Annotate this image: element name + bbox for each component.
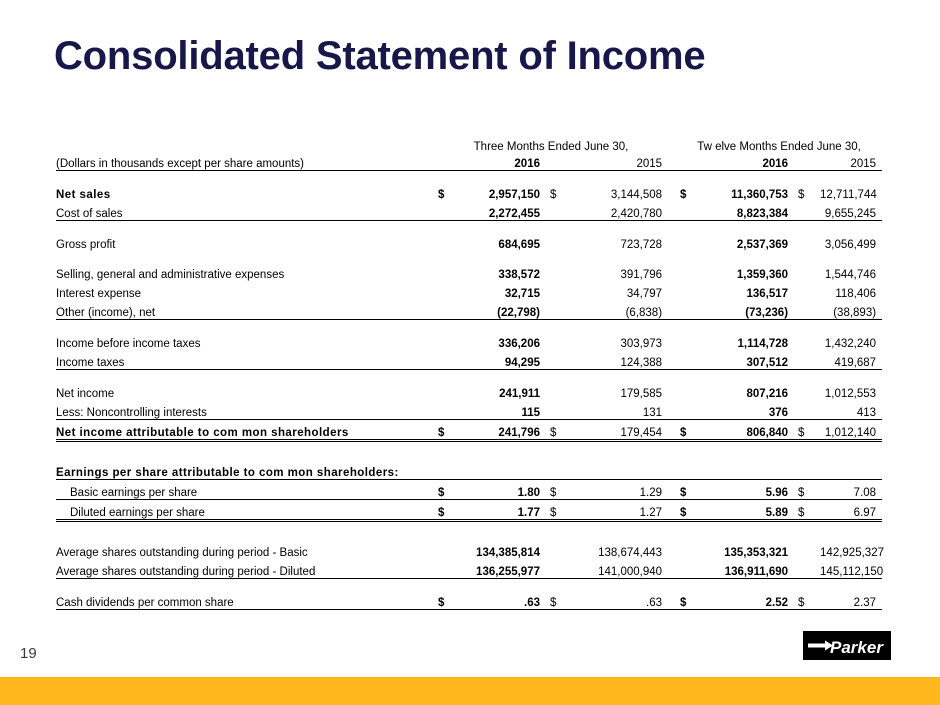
parker-logo: Parker [803, 631, 891, 660]
units-note: (Dollars in thousands except per share a… [56, 153, 434, 171]
currency-symbol: $ [794, 480, 820, 500]
col-header-y-2015: 2015 [820, 153, 882, 171]
currency-symbol: $ [546, 590, 572, 610]
cell-value: 807,216 [702, 381, 794, 400]
cell-value: 2,272,455 [460, 201, 546, 221]
row-label-avg-shares-diluted: Average shares outstanding during period… [56, 559, 434, 579]
parker-logo-text: Parker [830, 638, 884, 657]
currency-symbol: $ [546, 480, 572, 500]
cell-value: 8,823,384 [702, 201, 794, 221]
cell-value: 135,353,321 [702, 540, 794, 559]
financial-statement-table: Three Months Ended June 30, Tw elve Mont… [56, 136, 882, 610]
table-row: Basic earnings per share $ 1.80 $ 1.29 $… [56, 480, 882, 500]
cell-value: 413 [820, 400, 882, 420]
spacer-row [56, 521, 882, 541]
row-label-cost-of-sales: Cost of sales [56, 201, 434, 221]
row-label-gross-profit: Gross profit [56, 232, 434, 251]
table-row: Gross profit 684,695 723,728 2,537,369 3… [56, 232, 882, 251]
spacer-row [56, 579, 882, 591]
cell-value: 3,144,508 [572, 182, 668, 201]
cell-value: 1.77 [460, 500, 546, 521]
cell-value: 391,796 [572, 262, 668, 281]
cell-value: 94,295 [460, 350, 546, 370]
group-header-three-months: Three Months Ended June 30, [434, 136, 668, 153]
spacer-row [56, 441, 882, 461]
row-label-sga: Selling, general and administrative expe… [56, 262, 434, 281]
row-label-noncontrolling-interests: Less: Noncontrolling interests [56, 400, 434, 420]
table-row: Income before income taxes 336,206 303,9… [56, 331, 882, 350]
spacer-row [56, 171, 882, 183]
row-label-basic-eps: Basic earnings per share [56, 480, 434, 500]
cell-value: 6.97 [820, 500, 882, 521]
cell-value: 241,911 [460, 381, 546, 400]
cell-value: 1,012,140 [820, 420, 882, 441]
cell-value: 142,925,327 [820, 540, 882, 559]
currency-symbol: $ [546, 420, 572, 441]
cell-value: 115 [460, 400, 546, 420]
table-row: Cost of sales 2,272,455 2,420,780 8,823,… [56, 201, 882, 221]
table-group-header-row: Three Months Ended June 30, Tw elve Mont… [56, 136, 882, 153]
cell-value: 338,572 [460, 262, 546, 281]
eps-section-heading-row: Earnings per share attributable to com m… [56, 460, 882, 480]
cell-value: 9,655,245 [820, 201, 882, 221]
cell-value: 2,420,780 [572, 201, 668, 221]
cell-value: 179,585 [572, 381, 668, 400]
cell-value: 376 [702, 400, 794, 420]
cell-value: 5.89 [702, 500, 794, 521]
table-row: Interest expense 32,715 34,797 136,517 1… [56, 281, 882, 300]
cell-value: 1,359,360 [702, 262, 794, 281]
cell-value: 336,206 [460, 331, 546, 350]
cell-value: 136,255,977 [460, 559, 546, 579]
col-header-y-2016: 2016 [702, 153, 794, 171]
cell-value: 2.52 [702, 590, 794, 610]
cell-value: 34,797 [572, 281, 668, 300]
cell-value: 134,385,814 [460, 540, 546, 559]
spacer-row [56, 320, 882, 332]
currency-symbol: $ [676, 480, 702, 500]
currency-symbol: $ [676, 420, 702, 441]
page-number: 19 [20, 645, 37, 662]
cell-value: 419,687 [820, 350, 882, 370]
income-statement: Three Months Ended June 30, Tw elve Mont… [56, 136, 882, 610]
currency-symbol: $ [794, 182, 820, 201]
row-label-avg-shares-basic: Average shares outstanding during period… [56, 540, 434, 559]
currency-symbol: $ [434, 590, 460, 610]
cell-value: 1,012,553 [820, 381, 882, 400]
row-label-income-taxes: Income taxes [56, 350, 434, 370]
eps-section-heading: Earnings per share attributable to com m… [56, 460, 882, 480]
spacer-cell [56, 136, 434, 153]
cell-value: 1.80 [460, 480, 546, 500]
currency-symbol: $ [676, 182, 702, 201]
cell-value: 32,715 [460, 281, 546, 300]
cell-value: 136,517 [702, 281, 794, 300]
row-label-net-income-attributable: Net income attributable to com mon share… [56, 420, 434, 441]
cell-value: 307,512 [702, 350, 794, 370]
spacer-row [56, 370, 882, 382]
currency-symbol: $ [794, 590, 820, 610]
cell-value: 684,695 [460, 232, 546, 251]
table-row: Less: Noncontrolling interests 115 131 3… [56, 400, 882, 420]
cell-value: 723,728 [572, 232, 668, 251]
row-label-income-before-taxes: Income before income taxes [56, 331, 434, 350]
cell-value: 138,674,443 [572, 540, 668, 559]
table-row: Net income 241,911 179,585 807,216 1,012… [56, 381, 882, 400]
page-title: Consolidated Statement of Income [54, 34, 705, 79]
row-label-interest-expense: Interest expense [56, 281, 434, 300]
cell-value: 2,537,369 [702, 232, 794, 251]
cell-value: 141,000,940 [572, 559, 668, 579]
cell-value: 131 [572, 400, 668, 420]
table-row: Diluted earnings per share $ 1.77 $ 1.27… [56, 500, 882, 521]
cell-value: .63 [572, 590, 668, 610]
currency-symbol: $ [676, 500, 702, 521]
group-header-twelve-months: Tw elve Months Ended June 30, [676, 136, 882, 153]
table-column-header-row: (Dollars in thousands except per share a… [56, 153, 882, 171]
row-label-net-income: Net income [56, 381, 434, 400]
cell-value: 241,796 [460, 420, 546, 441]
cell-value: 1,114,728 [702, 331, 794, 350]
cell-value: 1.29 [572, 480, 668, 500]
table-row: Net sales $ 2,957,150 $ 3,144,508 $ 11,3… [56, 182, 882, 201]
spacer-row [56, 221, 882, 233]
currency-symbol: $ [546, 182, 572, 201]
parker-logo-icon: Parker [803, 631, 891, 660]
col-header-q-2016: 2016 [460, 153, 546, 171]
spacer-cell [668, 136, 676, 153]
cell-value: 136,911,690 [702, 559, 794, 579]
cell-value: 2,957,150 [460, 182, 546, 201]
currency-symbol: $ [434, 420, 460, 441]
cell-value: 118,406 [820, 281, 882, 300]
table-row: Other (income), net (22,798) (6,838) (73… [56, 300, 882, 320]
currency-symbol: $ [434, 182, 460, 201]
cell-value: (73,236) [702, 300, 794, 320]
currency-symbol: $ [434, 500, 460, 521]
table-row: Selling, general and administrative expe… [56, 262, 882, 281]
cell-value: 11,360,753 [702, 182, 794, 201]
currency-symbol: $ [676, 590, 702, 610]
cell-value: 7.08 [820, 480, 882, 500]
bottom-accent-bar [0, 677, 940, 705]
cell-value: (22,798) [460, 300, 546, 320]
table-row: Income taxes 94,295 124,388 307,512 419,… [56, 350, 882, 370]
currency-symbol: $ [794, 500, 820, 521]
cell-value: 3,056,499 [820, 232, 882, 251]
spacer-row [56, 251, 882, 262]
row-label-diluted-eps: Diluted earnings per share [56, 500, 434, 521]
cell-value: 12,711,744 [820, 182, 882, 201]
table-row-total: Net income attributable to com mon share… [56, 420, 882, 441]
table-row: Average shares outstanding during period… [56, 540, 882, 559]
cell-value: .63 [460, 590, 546, 610]
cell-value: 1,544,746 [820, 262, 882, 281]
cell-value: 1.27 [572, 500, 668, 521]
cell-value: (6,838) [572, 300, 668, 320]
cell-value: 124,388 [572, 350, 668, 370]
table-row: Cash dividends per common share $ .63 $ … [56, 590, 882, 610]
table-row: Average shares outstanding during period… [56, 559, 882, 579]
cell-value: 179,454 [572, 420, 668, 441]
cell-value: 806,840 [702, 420, 794, 441]
row-label-net-sales: Net sales [56, 182, 434, 201]
currency-symbol: $ [546, 500, 572, 521]
cell-value: 145,112,150 [820, 559, 882, 579]
row-label-other-income: Other (income), net [56, 300, 434, 320]
currency-symbol: $ [794, 420, 820, 441]
cell-value: 5.96 [702, 480, 794, 500]
col-header-q-2015: 2015 [572, 153, 668, 171]
cell-value: (38,893) [820, 300, 882, 320]
row-label-cash-dividends: Cash dividends per common share [56, 590, 434, 610]
currency-symbol: $ [434, 480, 460, 500]
cell-value: 2.37 [820, 590, 882, 610]
cell-value: 1,432,240 [820, 331, 882, 350]
cell-value: 303,973 [572, 331, 668, 350]
